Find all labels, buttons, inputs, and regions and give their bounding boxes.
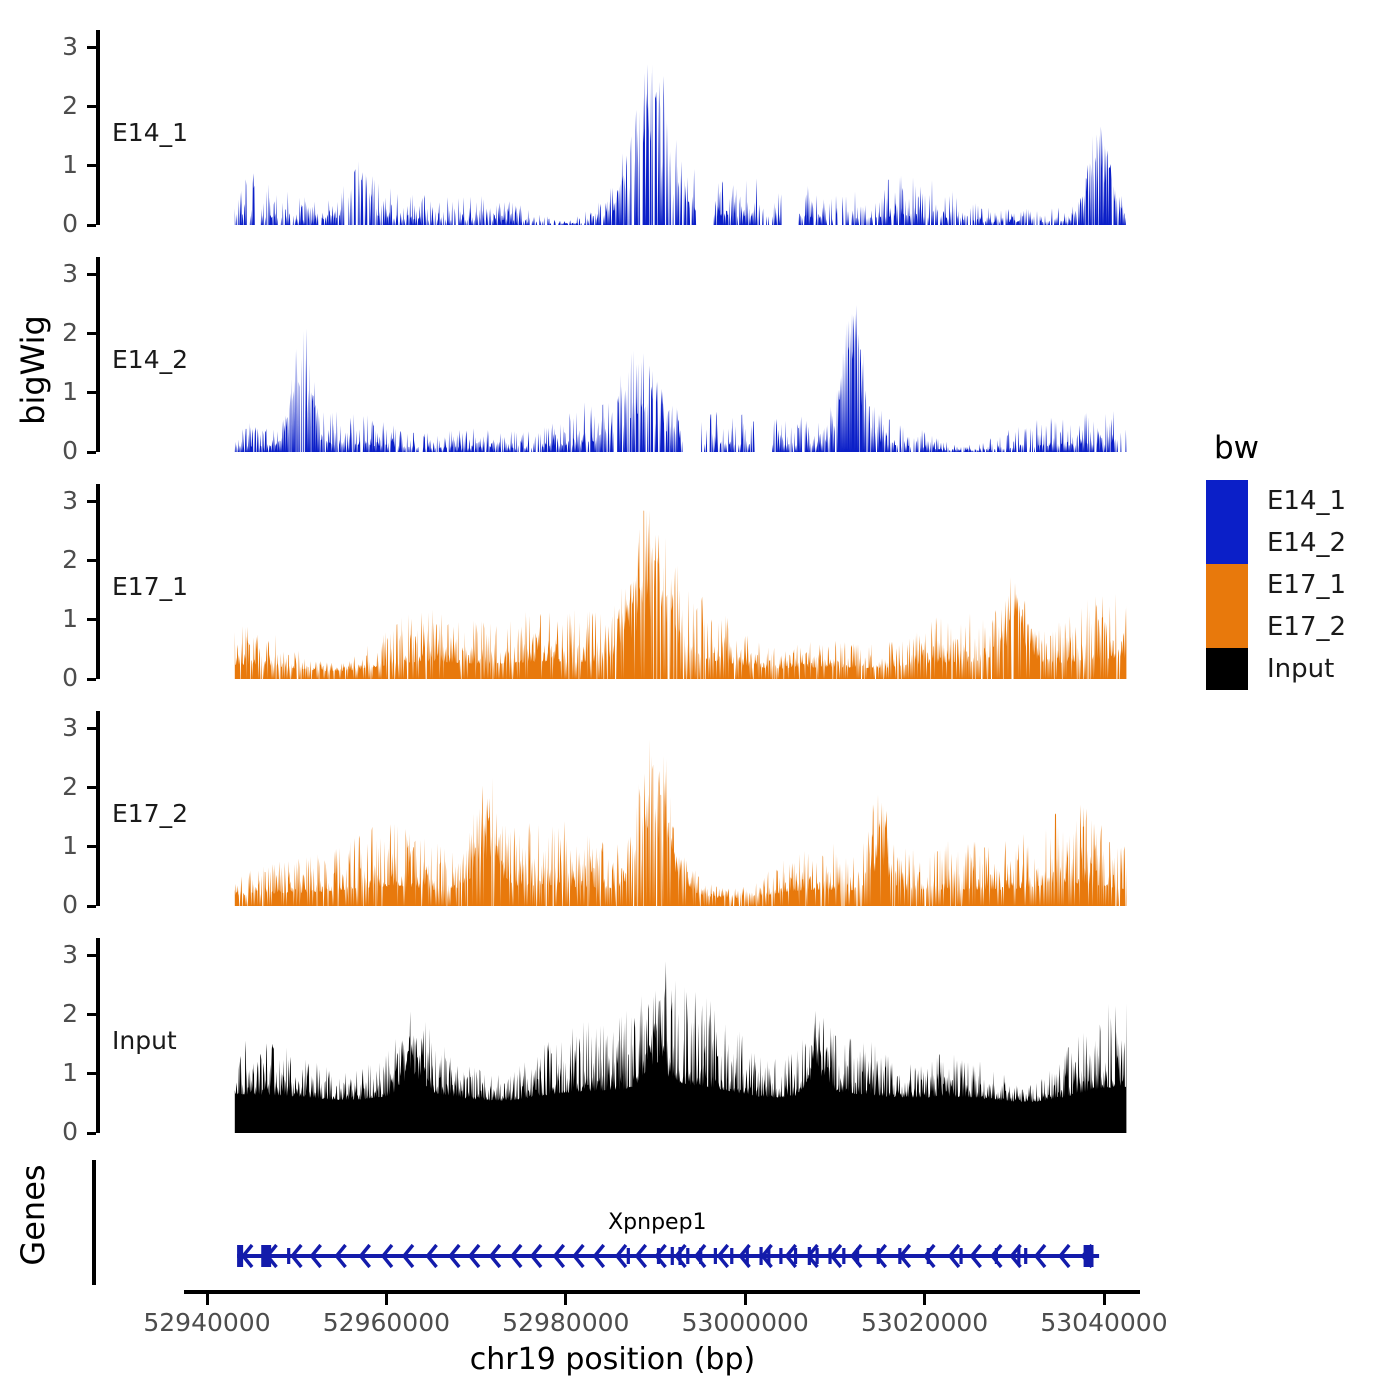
y-tick [87, 164, 96, 167]
y-tick [87, 727, 96, 730]
y-tick [87, 1013, 96, 1016]
y-tick [87, 46, 96, 49]
signal-area-path [100, 711, 1137, 906]
legend-color-swatch [1206, 480, 1248, 522]
signal-track-input[interactable] [100, 938, 1137, 1133]
y-tick-label: 1 [38, 1060, 78, 1085]
legend-item-e14_1[interactable]: E14_1 [1206, 480, 1346, 522]
track-panel-input: 0123Input [96, 938, 1137, 1133]
signal-area-path [100, 30, 1137, 225]
signal-track-e17_2[interactable] [100, 711, 1137, 906]
x-tick-label: 53020000 [835, 1308, 1015, 1337]
legend-item-input[interactable]: Input [1206, 648, 1346, 690]
y-tick-label: 2 [38, 1001, 78, 1026]
y-tick-label: 3 [38, 488, 78, 513]
y-tick-label: 3 [38, 715, 78, 740]
y-tick-label: 0 [38, 665, 78, 690]
genome-browser-figure: bigWig Genes chr19 position (bp) 0123E14… [0, 0, 1400, 1400]
gene-model-svg [96, 1160, 1137, 1285]
x-axis-title: chr19 position (bp) [90, 1342, 1135, 1377]
legend-item-e17_2[interactable]: E17_2 [1206, 606, 1346, 648]
track-panel-e14_1: 0123E14_1 [96, 30, 1137, 225]
x-tick [923, 1294, 926, 1305]
legend-title: bw [1214, 430, 1346, 466]
legend-color-swatch [1206, 606, 1248, 648]
legend-color-swatch [1206, 564, 1248, 606]
y-tick-label: 1 [38, 152, 78, 177]
signal-track-e14_2[interactable] [100, 257, 1137, 452]
y-tick [87, 105, 96, 108]
y-tick [87, 786, 96, 789]
signal-track-e14_1[interactable] [100, 30, 1137, 225]
y-tick-label: 2 [38, 774, 78, 799]
y-tick [87, 224, 96, 227]
y-tick-label: 1 [38, 833, 78, 858]
y-tick [87, 954, 96, 957]
y-tick-label: 0 [38, 438, 78, 463]
track-panel-e17_2: 0123E17_2 [96, 711, 1137, 906]
x-tick-label: 52960000 [296, 1308, 476, 1337]
genes-panel: Xpnpep1 [92, 1160, 1137, 1285]
y-tick [87, 451, 96, 454]
track-panel-e17_1: 0123E17_1 [96, 484, 1137, 679]
x-tick-label: 53000000 [655, 1308, 835, 1337]
y-tick [87, 391, 96, 394]
legend-item-label: E14_1 [1267, 486, 1346, 516]
x-tick [1103, 1294, 1106, 1305]
y-tick-label: 0 [38, 892, 78, 917]
y-tick-label: 3 [38, 942, 78, 967]
x-tick [206, 1294, 209, 1305]
x-tick [564, 1294, 567, 1305]
y-tick [87, 845, 96, 848]
y-tick-label: 2 [38, 320, 78, 345]
y-tick-label: 2 [38, 547, 78, 572]
legend-item-label: Input [1267, 654, 1334, 684]
y-tick-label: 1 [38, 379, 78, 404]
legend-item-label: E17_2 [1267, 612, 1346, 642]
legend-item-label: E14_2 [1267, 528, 1346, 558]
x-tick [744, 1294, 747, 1305]
y-tick [87, 559, 96, 562]
legend-item-e17_1[interactable]: E17_1 [1206, 564, 1346, 606]
y-tick-label: 0 [38, 1119, 78, 1144]
legend-item-label: E17_1 [1267, 570, 1346, 600]
legend-items: E14_1E14_2E17_1E17_2Input [1206, 480, 1346, 690]
x-axis-line [184, 1290, 1140, 1294]
x-tick [385, 1294, 388, 1305]
signal-area-path [100, 257, 1137, 452]
signal-track-e17_1[interactable] [100, 484, 1137, 679]
signal-area-path [100, 938, 1137, 1133]
legend: bw E14_1E14_2E17_1E17_2Input [1206, 430, 1346, 690]
y-tick [87, 1132, 96, 1135]
y-tick [87, 678, 96, 681]
x-tick-label: 52940000 [117, 1308, 297, 1337]
y-tick [87, 273, 96, 276]
y-tick-label: 0 [38, 211, 78, 236]
y-tick-label: 1 [38, 606, 78, 631]
y-tick-label: 3 [38, 34, 78, 59]
y-tick-label: 3 [38, 261, 78, 286]
legend-color-swatch [1206, 522, 1248, 564]
genes-axis-title: Genes [14, 1140, 52, 1290]
x-tick-label: 52980000 [476, 1308, 656, 1337]
legend-color-swatch [1206, 648, 1248, 690]
x-tick-label: 53040000 [1014, 1308, 1194, 1337]
y-tick [87, 1072, 96, 1075]
y-tick-label: 2 [38, 93, 78, 118]
track-panel-e14_2: 0123E14_2 [96, 257, 1137, 452]
y-tick [87, 500, 96, 503]
y-tick [87, 905, 96, 908]
legend-item-e14_2[interactable]: E14_2 [1206, 522, 1346, 564]
gene-model-track[interactable] [96, 1160, 1137, 1285]
y-tick [87, 332, 96, 335]
signal-area-path [100, 484, 1137, 679]
y-tick [87, 618, 96, 621]
